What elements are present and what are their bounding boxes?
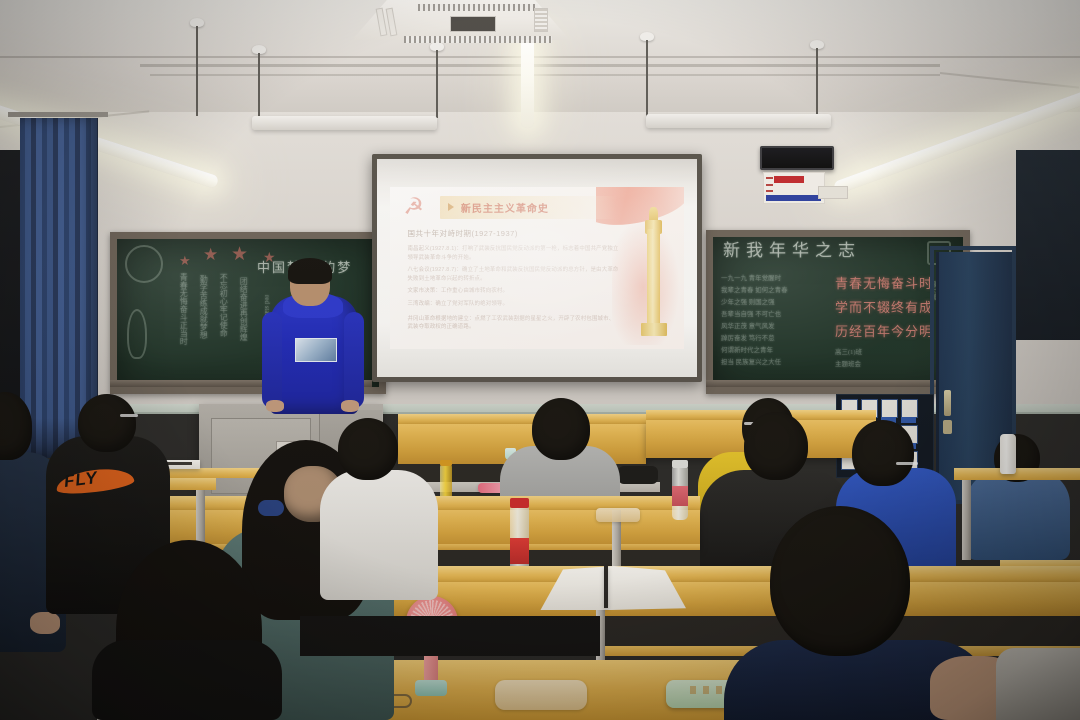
led-display-board [760,146,834,170]
presentation-slide: ☭ 新民主主义革命史 国共十年对峙时期(1927-1937) 南昌起义(1927… [390,187,684,348]
board-right-line: 踔厉奋发 笃行不怠 [721,335,775,342]
student-body [92,640,282,720]
board-right-line: 风华正茂 意气风发 [721,323,775,330]
board-right-small-line: 高三(1)班 [835,349,862,356]
projection-screen: ☭ 新民主主义革命史 国共十年对峙时期(1927-1937) 南昌起义(1927… [377,159,697,377]
slide-paragraph: 南昌起义(1927.8.1)：打响了武装反抗国民党反动派的第一枪，标志着中国共产… [407,245,619,262]
snack-bag [495,680,587,710]
bottle-cap [510,498,529,508]
projector-vent [418,4,538,11]
student-silhouette-under-desk [300,616,600,656]
classroom-scene: ★ ★ ★ ★ 中国梦 我的梦 青春无悔奋斗正当时 勤学苦练成就梦想 不忘初心牢… [0,0,1080,720]
student-head [78,394,136,452]
board-left-column: 勤学苦练成就梦想 [199,275,208,363]
student-body [320,470,438,600]
chalk-tray-right [706,380,956,387]
slide-title: 新民主主义革命史 [461,200,549,215]
light-baffle [252,116,437,130]
projector-lens-icon [450,16,496,32]
ceiling-seam [0,56,1080,58]
board-right-line: 我辈之青春 如何之青春 [721,287,788,294]
presenter-hand-left [266,400,284,412]
student-head [338,418,398,480]
monument-base [641,323,667,336]
triangle-bullet-icon [448,203,454,211]
poster-line [766,177,773,179]
projection-screen-frame: ☭ 新民主主义革命史 国共十年对峙时期(1927-1937) 南昌起义(1927… [372,154,702,382]
presenter-arm-right [344,312,364,408]
slide-paragraph: 井冈山革命根据地的建立：点燃了工农武装割据的星星之火，开辟了农村包围城市、武装夺… [407,315,619,332]
safety-poster [763,172,825,204]
fan-base [415,680,447,696]
board-left-column: 不忘初心牢记使命 [219,273,228,365]
glasses-icon [896,462,918,465]
board-left-column: 团结奋进再创辉煌 [239,277,248,363]
board-right-red-line: 历经百年今分明 [835,325,933,340]
board-right-line: 何谓新时代之青年 [721,347,773,354]
desk-right-1 [954,468,1080,480]
ceiling-light-center [521,36,534,128]
projector-vent [404,36,552,43]
poster-blue-banner [766,195,821,201]
desk-row-far [398,414,646,424]
desk-leg [962,480,971,560]
hoodie-graphic [295,338,337,362]
slide-subtitle: 国共十年对峙时期(1927-1937) [407,228,517,239]
ceiling-beam [140,64,940,67]
light-rod [646,40,648,118]
hair-tie [258,500,284,516]
bottle-cap [672,460,688,468]
poster-red-banner [774,176,804,183]
pen [166,462,192,465]
light-rod [436,50,438,118]
slide-paragraph: 文家市决策：工作重心由城市转向农村。 [407,287,619,295]
wall-conduit [150,74,940,76]
party-emblem-icon: ☭ [399,192,429,222]
presenter-hand-right [341,400,359,412]
snack-wrapper [596,508,640,522]
bottle-cap [440,460,452,466]
black-bag [618,466,658,484]
slide-paragraph: 八七会议(1927.8.7)：确立了土地革命和武装反抗国民党反动派的总方针，是由… [407,266,619,283]
hoodie-brand-text: FLY [63,468,99,492]
exit-sign [818,186,848,199]
glasses-icon [120,414,138,417]
star-icon: ★ [203,245,218,265]
student-head [532,398,590,460]
light-rod [196,26,198,116]
presenter-arm-left [262,312,282,408]
board-right-red-line: 学而不辍终有成 [835,301,933,316]
thermos [1000,434,1016,474]
student-sleeve [996,648,1080,720]
board-right-red-line: 青春无悔奋斗时 [835,277,933,292]
student-head [852,420,914,486]
slide-paragraph: 三湾改编：确立了党对军队的绝对领导。 [407,300,619,308]
poster-line [766,190,773,192]
bottle-label [672,486,688,506]
chalk-drawing-circle [125,245,163,283]
board-right-line: 少年之强 则国之强 [721,299,775,306]
board-right-line: 一九一九 青年觉醒时 [721,275,781,282]
star-icon: ★ [179,253,191,269]
monument-column [647,229,660,329]
bottle-label [510,538,529,564]
light-baffle [646,114,831,128]
door-handle[interactable] [944,390,951,416]
star-icon: ★ [231,243,248,266]
door-lock-icon[interactable] [943,420,952,434]
board-right-small-line: 主题班会 [835,361,861,368]
light-rod [258,53,260,116]
student-head [744,412,808,480]
board-right-heading: 新我年华之志 [723,241,861,261]
light-rod [816,48,818,118]
student-body [966,470,1070,560]
chalk-drawing-plant [127,309,147,359]
board-right-line: 吾辈当自强 不可亡也 [721,311,781,318]
poster-line [766,184,773,186]
board-left-column: 青春无悔奋斗正当时 [179,273,188,363]
student-head [770,506,910,656]
projector-mount-plate [534,8,548,32]
presenter-hair [288,258,332,284]
notebook-spine [604,566,608,608]
window-right [1016,150,1080,340]
curtain-rod [8,112,108,117]
slide-title-bar: 新民主主义革命史 [440,196,617,219]
student-hand [30,612,60,634]
board-right-line: 担当 民族复兴之大任 [721,359,781,366]
